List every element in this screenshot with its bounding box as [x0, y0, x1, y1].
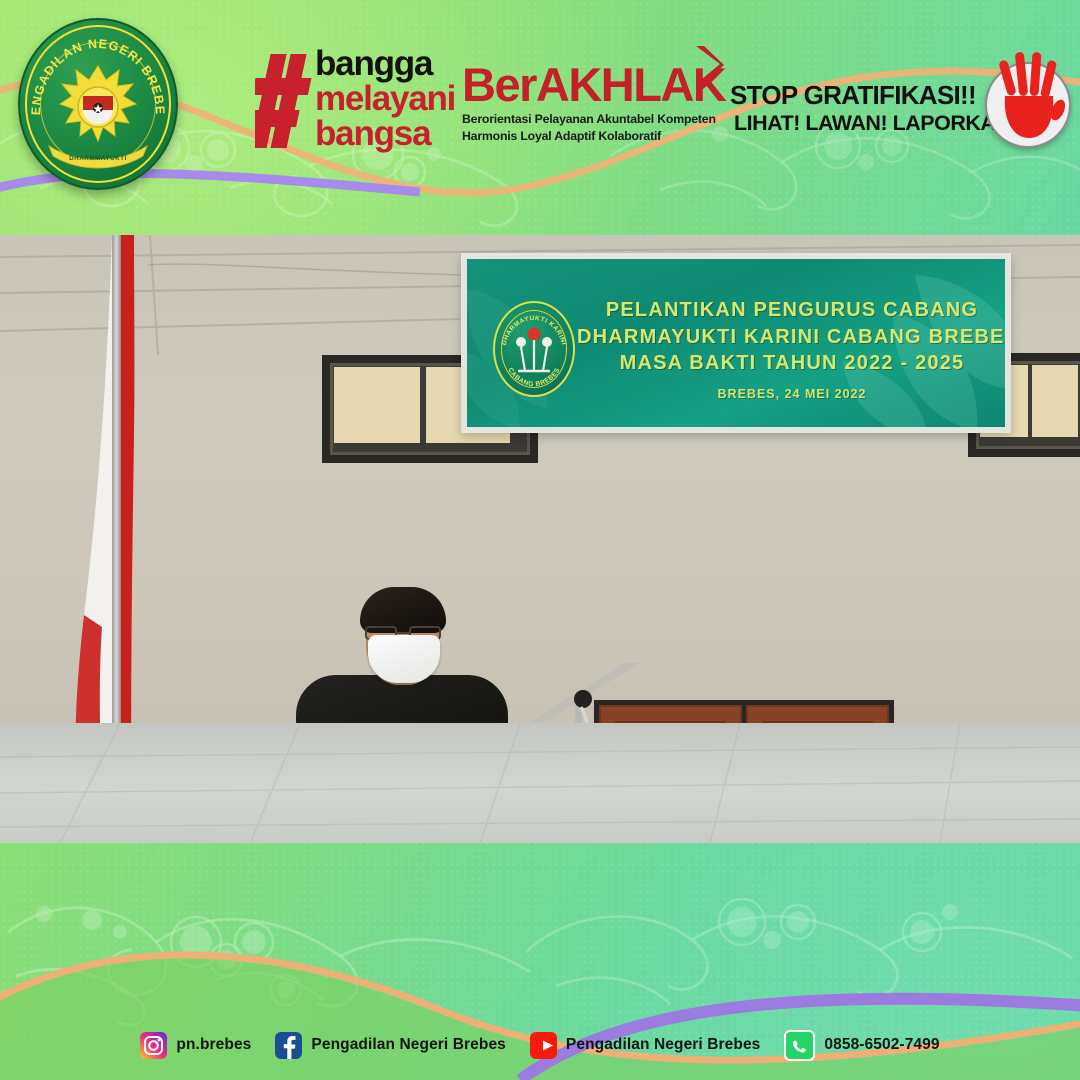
instagram-icon[interactable] — [140, 1032, 167, 1059]
berakhlak-chevron-icon — [690, 44, 726, 86]
dk-arc-top: DHARMAYUKTI KARINI — [501, 315, 567, 346]
svg-text:DHARMAYUKTI KARINI: DHARMAYUKTI KARINI — [501, 315, 567, 346]
social-instagram[interactable]: pn.brebes — [140, 1032, 251, 1059]
poster-canvas: PENGADILAN NEGERI BREBES DHARMMAYUKTI — [0, 0, 1080, 1080]
social-facebook[interactable]: Pengadilan Negeri Brebes — [275, 1032, 506, 1059]
banner-text-block: PELANTIKAN PENGURUS CABANG DHARMAYUKTI K… — [577, 297, 1007, 377]
seal-ribbon-banner: DHARMMAYUKTI — [43, 128, 153, 170]
lihat-lawan-laporkan-line: LIHAT! LAWAN! LAPORKAN! — [730, 110, 1017, 136]
banner-date-line: BREBES, 24 MEI 2022 — [577, 387, 1007, 401]
berakhlak-logo: BerAKHLAK Berorientasi Pelayanan Akuntab… — [462, 60, 712, 143]
whatsapp-icon[interactable] — [784, 1030, 815, 1061]
dk-arc-bottom: CABANG BREBES — [506, 367, 561, 388]
melayani-line: melayani — [315, 81, 455, 116]
whatsapp-number: 0858-6502-7499 — [824, 1036, 939, 1054]
seal-ribbon-label: DHARMMAYUKTI — [69, 155, 127, 162]
berakhlak-title: BerAKHLAK — [462, 60, 712, 110]
facebook-icon[interactable] — [275, 1032, 302, 1059]
red-handprint-icon — [985, 62, 1071, 148]
banner-line-2: DHARMAYUKTI KARINI CABANG BREBES — [577, 324, 1007, 351]
dharmayukti-karini-logo: DHARMAYUKTI KARINI CABANG BREBES — [493, 301, 575, 397]
banner-line-3: MASA BAKTI TAHUN 2022 - 2025 — [577, 350, 1007, 377]
poster-header: PENGADILAN NEGERI BREBES DHARMMAYUKTI — [0, 0, 1080, 235]
social-youtube[interactable]: Pengadilan Negeri Brebes — [530, 1032, 761, 1059]
hashtag-text-block: bangga melayani bangsa — [315, 46, 455, 151]
berakhlak-subtitle-line1: Berorientasi Pelayanan Akuntabel Kompete… — [462, 112, 712, 127]
instagram-handle: pn.brebes — [176, 1036, 251, 1054]
window-pane — [1032, 365, 1078, 437]
face-mask — [368, 635, 440, 683]
stop-gratifikasi-line: STOP GRATIFIKASI!! — [730, 80, 1017, 110]
social-media-footer: pn.brebes Pengadilan Negeri Brebes Penga… — [0, 1010, 1080, 1080]
seal-shield-icon — [75, 86, 121, 128]
banner-line-1: PELANTIKAN PENGURUS CABANG — [577, 297, 1007, 324]
berakhlak-subtitle-line2: Harmonis Loyal Adaptif Kolaboratif — [462, 129, 712, 144]
hashtag-icon — [255, 52, 317, 150]
dk-logo-arc-text: DHARMAYUKTI KARINI CABANG BREBES — [495, 303, 573, 395]
event-photograph: DHARMAYUKTI KARINI CABANG BREBES PELANTI… — [0, 235, 1080, 843]
youtube-icon[interactable] — [530, 1032, 557, 1059]
window-pane — [334, 367, 420, 443]
svg-text:CABANG BREBES: CABANG BREBES — [506, 367, 561, 388]
bangga-melayani-bangsa-logo: bangga melayani bangsa — [255, 46, 470, 156]
anti-gratification-block: STOP GRATIFIKASI!! LIHAT! LAWAN! LAPORKA… — [730, 80, 1017, 136]
social-whatsapp[interactable]: 0858-6502-7499 — [784, 1030, 939, 1061]
facebook-handle: Pengadilan Negeri Brebes — [311, 1036, 506, 1054]
bangsa-line: bangsa — [315, 116, 455, 151]
event-banner: DHARMAYUKTI KARINI CABANG BREBES PELANTI… — [461, 253, 1011, 433]
youtube-handle: Pengadilan Negeri Brebes — [566, 1036, 761, 1054]
bangga-line: bangga — [315, 46, 455, 81]
floor-tile-grid — [0, 723, 1080, 843]
court-seal-logo: PENGADILAN NEGERI BREBES DHARMMAYUKTI — [18, 18, 178, 190]
